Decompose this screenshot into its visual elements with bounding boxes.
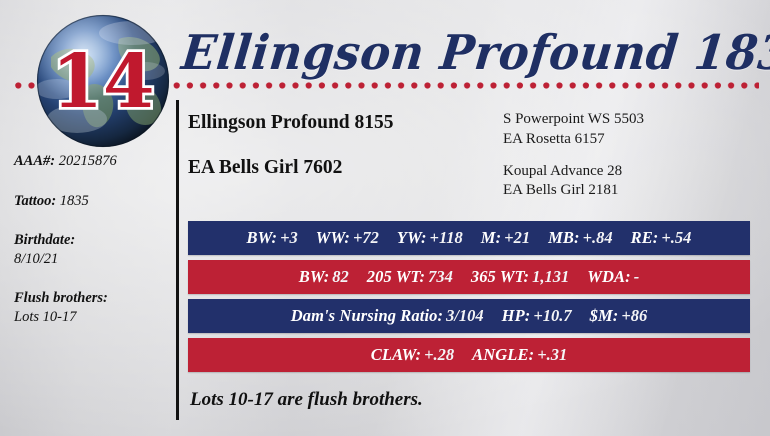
stat-value: 1,131	[532, 267, 569, 287]
footer-note: Lots 10-17 are flush brothers.	[190, 389, 423, 411]
stat-value: +86	[621, 306, 647, 326]
info-item-birthdate: Birthdate: 8/10/21	[14, 231, 172, 268]
stat-label: ANGLE:	[472, 345, 534, 365]
pedigree-granddam: EA Rosetta 6157	[503, 130, 750, 150]
stat-365-wt: 365 WT: 1,131	[471, 267, 569, 287]
stat-value: +21	[504, 228, 530, 248]
stat-actual-bw: BW: 82	[299, 267, 349, 287]
stat-milk: M: +21	[481, 228, 530, 248]
info-label: Flush brothers:	[14, 290, 108, 306]
page-title: Ellingson Profound 1835	[182, 16, 762, 88]
page-title-text: Ellingson Profound 1835	[179, 24, 770, 80]
stat-label: $M:	[590, 306, 619, 326]
pedigree-grandparents: S Powerpoint WS 5503 EA Rosetta 6157 Kou…	[503, 108, 750, 208]
stat-bar-epd: BW: +3 WW: +72 YW: +118 M: +21 MB: +.8	[188, 221, 750, 255]
stat-value: 734	[428, 267, 453, 287]
stat-yw: YW: +118	[397, 228, 463, 248]
stat-mb: MB: +.84	[548, 228, 613, 248]
stat-value: +72	[353, 228, 379, 248]
info-label: Birthdate:	[14, 232, 75, 248]
stat-value: +10.7	[533, 306, 571, 326]
pedigree-granddam: EA Bells Girl 2181	[503, 181, 750, 201]
stat-bar-weights: BW: 82 205 WT: 734 365 WT: 1,131 WDA: -	[188, 260, 750, 294]
pedigree-parents: Ellingson Profound 8155 EA Bells Girl 76…	[188, 108, 503, 208]
stat-label: BW:	[247, 228, 278, 248]
stat-label: BW:	[299, 267, 330, 287]
info-label: Tattoo:	[14, 193, 56, 209]
stat-label: M:	[481, 228, 501, 248]
stat-label: WDA:	[587, 267, 631, 287]
stat-label: YW:	[397, 228, 427, 248]
stat-label: 205 WT:	[367, 267, 425, 287]
stat-label: HP:	[502, 306, 531, 326]
pedigree-sire-parents: S Powerpoint WS 5503 EA Rosetta 6157	[503, 110, 750, 150]
stat-bar-maternal: Dam's Nursing Ratio: 3/104 HP: +10.7 $M:…	[188, 299, 750, 333]
stat-label: 365 WT:	[471, 267, 529, 287]
stat-wda: WDA: -	[587, 267, 639, 287]
pedigree-sire: Ellingson Profound 8155	[188, 112, 503, 133]
stat-value: 82	[332, 267, 349, 287]
catalog-page: 14 Ellingson Profound 1835 AAA#: 2021587…	[0, 0, 770, 436]
lot-number-globe-badge: 14	[33, 11, 173, 151]
stat-value: 3/104	[446, 306, 484, 326]
stat-value: +.54	[661, 228, 691, 248]
info-value: Lots 10-17	[14, 308, 172, 327]
lot-number-text: 14	[52, 39, 155, 125]
pedigree-dam: EA Bells Girl 7602	[188, 157, 503, 178]
info-value: 20215876	[59, 153, 117, 169]
info-value: 8/10/21	[14, 250, 172, 269]
info-value: 1835	[60, 193, 89, 209]
pedigree-grandsire: Koupal Advance 28	[503, 162, 750, 182]
stat-angle: ANGLE: +.31	[472, 345, 567, 365]
stat-label: Dam's Nursing Ratio:	[291, 306, 443, 326]
stat-value: +118	[430, 228, 463, 248]
stat-value: +.28	[424, 345, 454, 365]
pedigree-dam-parents: Koupal Advance 28 EA Bells Girl 2181	[503, 162, 750, 202]
stat-bars: BW: +3 WW: +72 YW: +118 M: +21 MB: +.8	[188, 221, 750, 372]
stat-value: +.31	[537, 345, 567, 365]
stat-label: WW:	[316, 228, 350, 248]
stat-label: RE:	[631, 228, 659, 248]
stat-re: RE: +.54	[631, 228, 692, 248]
stat-value: +.84	[583, 228, 613, 248]
pedigree-panel: Ellingson Profound 8155 EA Bells Girl 76…	[188, 108, 750, 208]
info-item-flush-brothers: Flush brothers: Lots 10-17	[14, 289, 172, 326]
stat-bw: BW: +3	[247, 228, 298, 248]
stat-dams-nursing-ratio: Dam's Nursing Ratio: 3/104	[291, 306, 484, 326]
animal-info-list: AAA#: 20215876 Tattoo: 1835 Birthdate: 8…	[14, 152, 172, 326]
pedigree-grandsire: S Powerpoint WS 5503	[503, 110, 750, 130]
stat-value: +3	[280, 228, 298, 248]
stat-label: MB:	[548, 228, 579, 248]
stat-bar-foot: CLAW: +.28 ANGLE: +.31	[188, 338, 750, 372]
stat-dollar-m: $M: +86	[590, 306, 648, 326]
stat-205-wt: 205 WT: 734	[367, 267, 453, 287]
info-item-tattoo: Tattoo: 1835	[14, 192, 172, 211]
stat-value: -	[634, 267, 640, 287]
vertical-divider	[176, 100, 179, 420]
stat-ww: WW: +72	[316, 228, 379, 248]
info-item-aaa-number: AAA#: 20215876	[14, 152, 172, 171]
stat-label: CLAW:	[371, 345, 421, 365]
info-label: AAA#:	[14, 153, 55, 169]
stat-claw: CLAW: +.28	[371, 345, 454, 365]
stat-hp: HP: +10.7	[502, 306, 572, 326]
